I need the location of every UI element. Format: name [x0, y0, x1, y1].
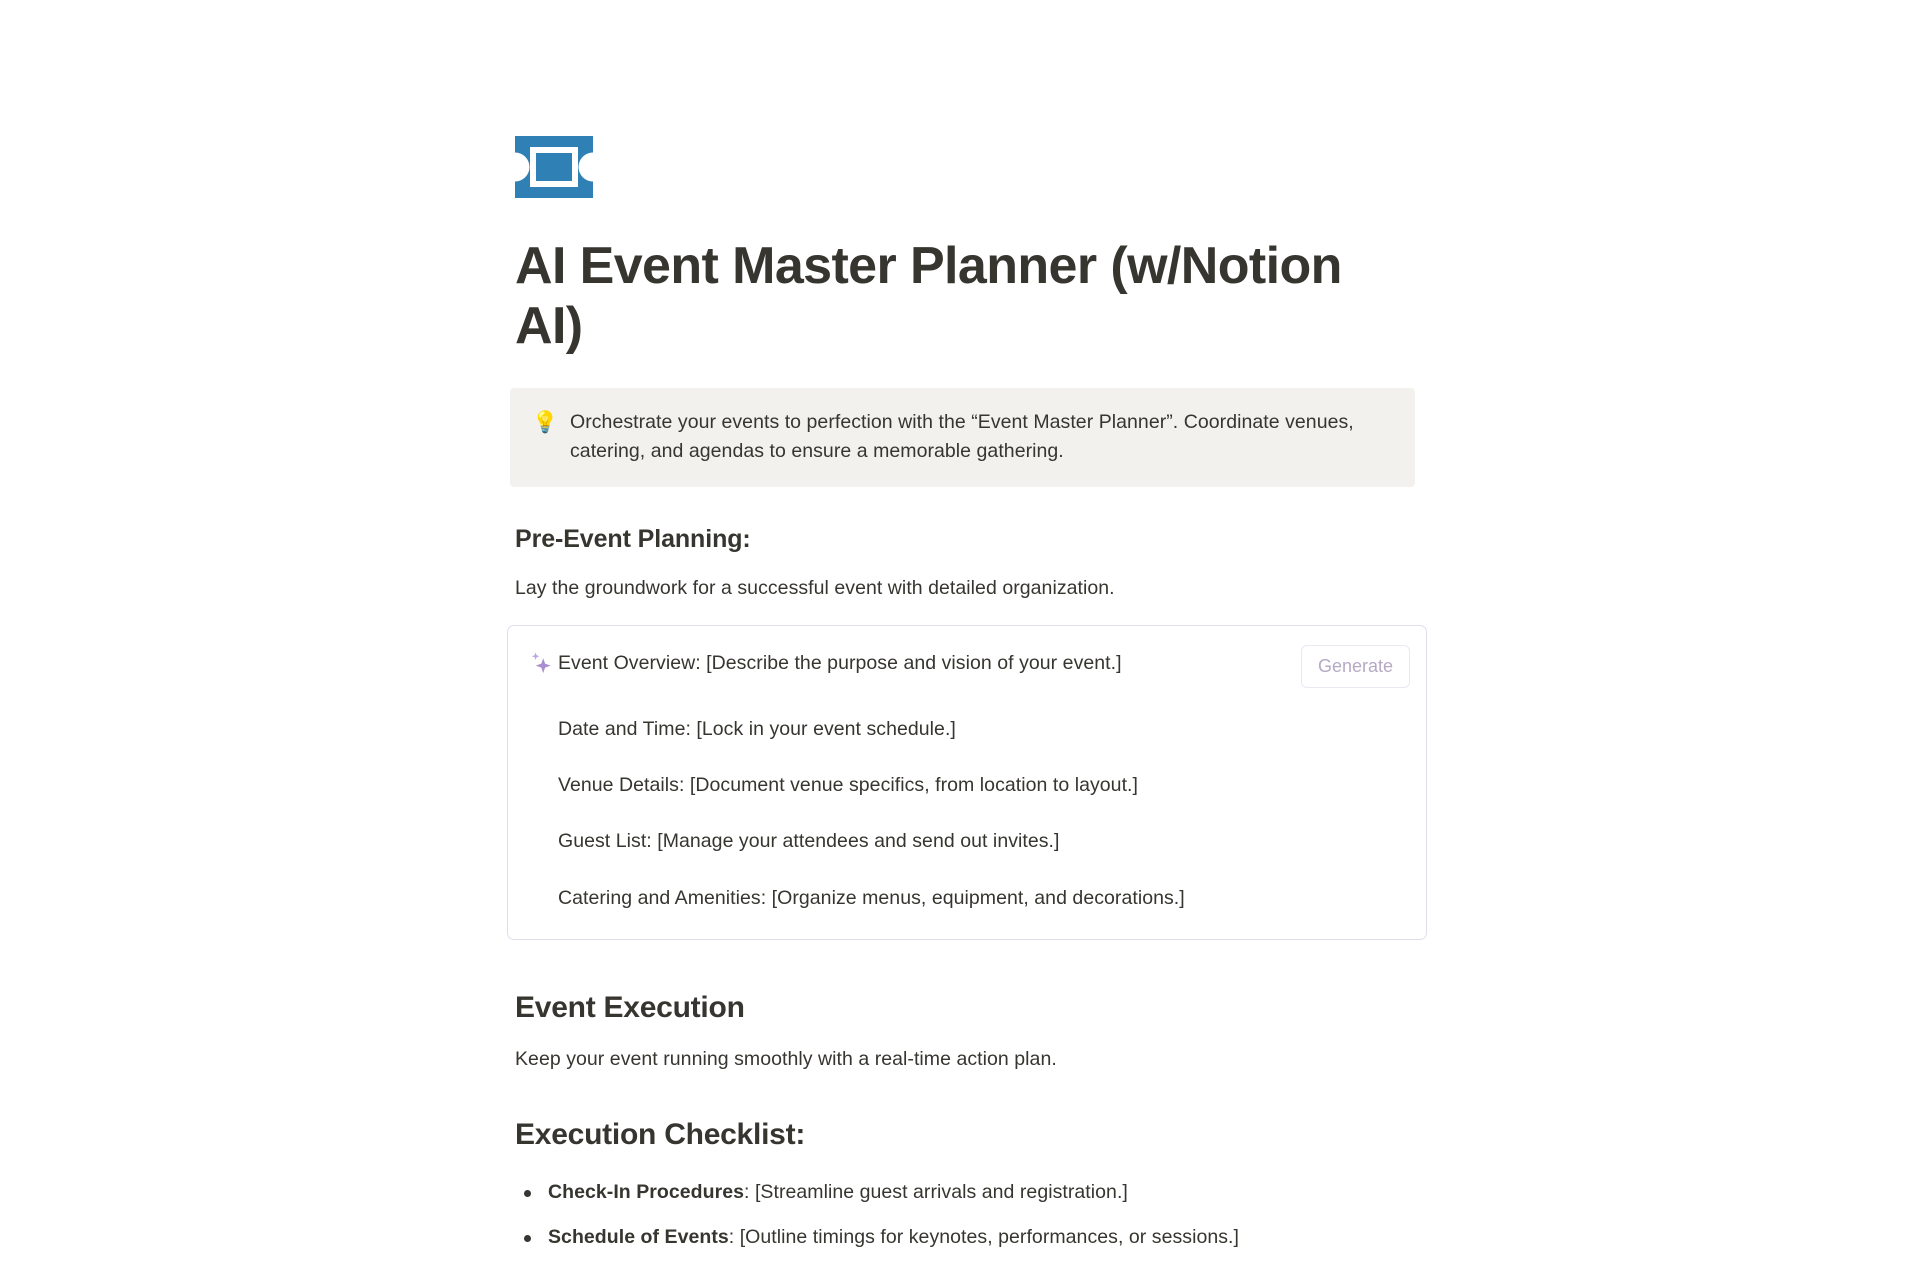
ai-line-date-and-time: Date and Time: [Lock in your event sched…: [558, 715, 1410, 744]
callout-block[interactable]: 💡 Orchestrate your events to perfection …: [510, 388, 1415, 488]
list-item-label: Check-In Procedures: [548, 1181, 744, 1203]
sparkle-icon: [530, 651, 552, 677]
heading-event-execution: Event Execution: [515, 988, 1420, 1027]
sparkle-icon-container: [524, 648, 558, 677]
ai-line-guest-list: Guest List: [Manage your attendees and s…: [558, 827, 1410, 856]
list-item-text: : [Outline timings for keynotes, perform…: [729, 1226, 1239, 1248]
ai-block-first-row: Event Overview: [Describe the purpose an…: [524, 648, 1410, 688]
list-item-text: : [Streamline guest arrivals and registr…: [744, 1181, 1128, 1203]
notion-page: AI Event Master Planner (w/Notion AI) 💡 …: [0, 0, 1920, 1199]
ai-line-venue-details: Venue Details: [Document venue specifics…: [558, 771, 1410, 800]
execution-checklist-list: Check-In Procedures: [Streamline guest a…: [515, 1178, 1420, 1253]
ticket-icon: [515, 136, 593, 198]
heading-pre-event-planning: Pre-Event Planning:: [515, 523, 1420, 556]
list-item-label: Schedule of Events: [548, 1226, 729, 1248]
generate-button[interactable]: Generate: [1301, 645, 1410, 688]
list-item: Schedule of Events: [Outline timings for…: [515, 1223, 1420, 1252]
page-content-column: AI Event Master Planner (w/Notion AI) 💡 …: [515, 0, 1420, 1269]
ai-line-catering-and-amenities: Catering and Amenities: [Organize menus,…: [558, 884, 1410, 913]
pre-event-description: Lay the groundwork for a successful even…: [515, 574, 1420, 603]
ai-generation-block[interactable]: Event Overview: [Describe the purpose an…: [507, 625, 1427, 940]
ai-line-event-overview: Event Overview: [Describe the purpose an…: [558, 648, 1289, 678]
heading-execution-checklist: Execution Checklist:: [515, 1115, 1420, 1154]
page-title[interactable]: AI Event Master Planner (w/Notion AI): [515, 236, 1395, 357]
list-item: Check-In Procedures: [Streamline guest a…: [515, 1178, 1420, 1207]
event-execution-description: Keep your event running smoothly with a …: [515, 1045, 1420, 1074]
page-icon-container[interactable]: [515, 0, 1420, 198]
callout-text: Orchestrate your events to perfection wi…: [570, 408, 1393, 467]
lightbulb-emoji: 💡: [532, 408, 556, 438]
